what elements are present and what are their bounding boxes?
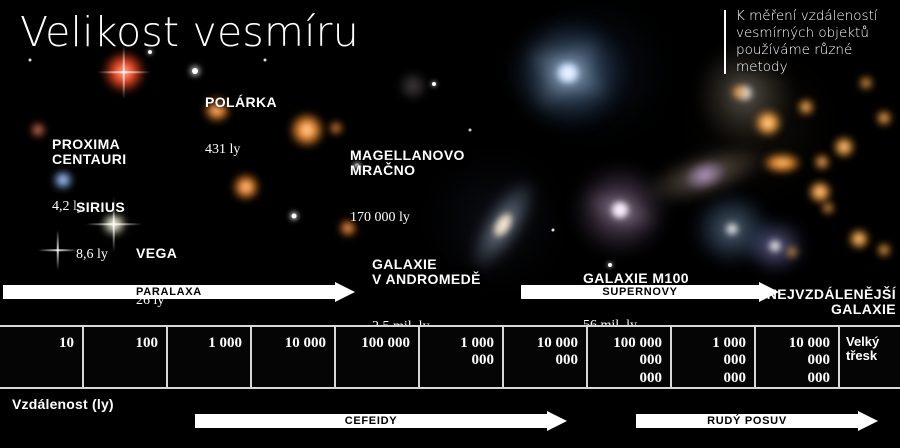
star-red-giant [103, 52, 145, 92]
method-label: CEFEIDY [195, 411, 547, 431]
scale-cell: 100 [84, 327, 168, 387]
scale-cell: 10 000 000 000 [756, 327, 840, 387]
distant-galaxy [815, 156, 829, 169]
scale-cell: 1 000 [168, 327, 252, 387]
object-name: POLÁRKA [205, 95, 277, 110]
methods-note: K měření vzdáleností vesmírných objektů … [724, 8, 896, 76]
star-orange-bright [290, 114, 324, 147]
distant-galaxy [809, 182, 831, 202]
star-white-small [29, 59, 32, 62]
distant-galaxy [823, 203, 834, 213]
arrow-head [335, 282, 355, 302]
object-name: VEGA [136, 246, 177, 261]
distant-galaxy [733, 86, 746, 98]
scale-cell: 10 [0, 327, 84, 387]
label-polarka: POLÁRKA 431 ly [205, 62, 277, 191]
distant-galaxy [860, 78, 872, 89]
distant-galaxy [877, 112, 891, 125]
object-name: SIRIUS [76, 200, 125, 215]
arrow-head [858, 411, 878, 431]
page-title: Velikost vesmíru [20, 8, 359, 56]
scale-cell: 10 000 [252, 327, 336, 387]
star-white-small [469, 129, 472, 132]
star-white-small [552, 229, 555, 232]
arrow-head [547, 411, 567, 431]
nebula-glow [520, 10, 670, 130]
distant-galaxy [755, 111, 781, 135]
object-distance: 170 000 ly [350, 211, 465, 226]
star-orange-small [330, 123, 342, 134]
object-distance: 8,6 ly [76, 248, 125, 263]
scale-cell: 1 000 000 000 [672, 327, 756, 387]
method-label: RUDÝ POSUV [636, 411, 858, 431]
object-name: PROXIMA CENTAURI [52, 137, 127, 166]
star-polaris [192, 68, 198, 74]
distant-galaxy [850, 230, 869, 248]
distant-galaxy [834, 138, 854, 157]
object-name: MAGELLANOVO MRAČNO [350, 148, 465, 177]
label-sirius: SIRIUS 8,6 ly [76, 167, 125, 296]
method-arrow-paralaxa: PARALAXA [3, 282, 355, 302]
method-label: SUPERNOVY [521, 282, 759, 302]
method-arrow-rudy-posuv: RUDÝ POSUV [636, 411, 878, 431]
star-white-small [432, 82, 436, 86]
object-distance: 431 ly [205, 143, 277, 158]
scale-cell: 1 000 000 [420, 327, 504, 387]
star-white-small [292, 214, 297, 219]
star-faint-pink [398, 72, 428, 100]
label-vega: VEGA 26 ly [136, 213, 177, 342]
method-arrow-supernovy: SUPERNOVY [521, 282, 779, 302]
distant-galaxy [799, 100, 814, 114]
object-name: GALAXIE V ANDROMEDĚ [372, 257, 481, 286]
scale-cell: 100 000 000 000 [588, 327, 672, 387]
distance-scale-table: 10 100 1 000 10 000 100 000 1 000 000 10… [0, 325, 900, 389]
scale-cell-big-bang: Velký třesk [840, 327, 896, 387]
method-label: PARALAXA [3, 282, 335, 302]
star-proxima-centauri [32, 124, 45, 136]
infographic-canvas: Velikost vesmíru K měření vzdáleností ve… [0, 0, 900, 448]
distant-galaxy [764, 154, 800, 172]
axis-label: Vzdálenost (ly) [12, 396, 114, 412]
scale-cell: 100 000 [336, 327, 420, 387]
arrow-head [759, 282, 779, 302]
method-arrow-cefeidy: CEFEIDY [195, 411, 567, 431]
scale-cell: 10 000 000 [504, 327, 588, 387]
